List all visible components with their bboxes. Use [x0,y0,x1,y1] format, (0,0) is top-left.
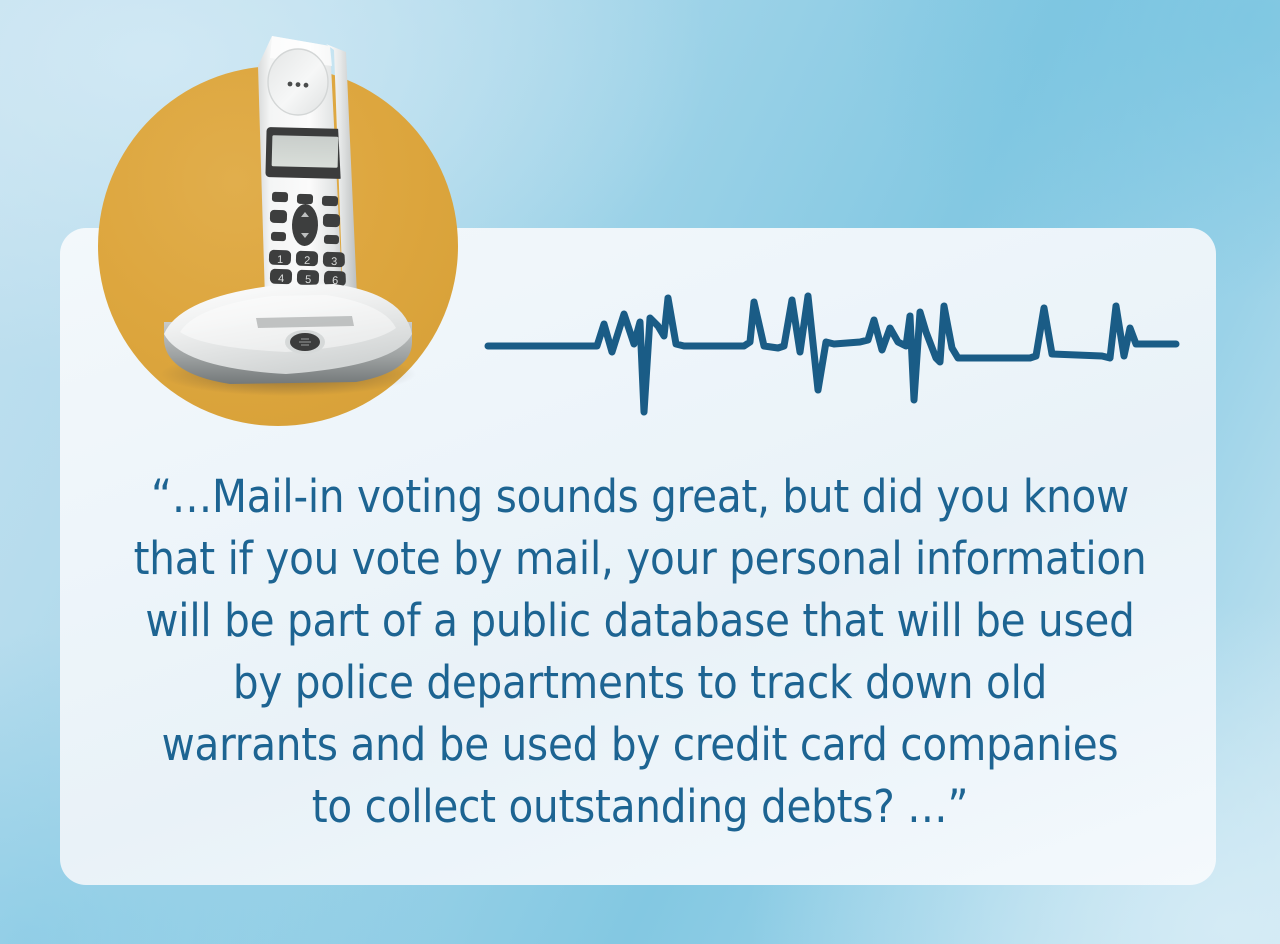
svg-text:4: 4 [278,273,284,285]
audio-waveform-icon [482,272,1182,422]
quote-line-2: that if you vote by mail, your personal … [100,528,1180,590]
svg-text:2: 2 [304,255,310,267]
quote-line-6: to collect outstanding debts? …” [100,776,1180,838]
lcd-screen [272,135,339,168]
quote-line-3: will be part of a public database that w… [100,590,1180,652]
cordless-phone-icon: 1 2 3 4 5 6 7 8 9 * 0 # [120,22,440,422]
svg-text:1: 1 [277,254,283,266]
svg-text:5: 5 [305,274,311,286]
quote-line-4: by police departments to track down old [100,652,1180,714]
quote-line-1: “…Mail-in voting sounds great, but did y… [100,466,1180,528]
quote-text: “…Mail-in voting sounds great, but did y… [100,466,1180,838]
quote-line-5: warrants and be used by credit card comp… [100,714,1180,776]
graphic-canvas: 1 2 3 4 5 6 7 8 9 * 0 # [0,0,1280,944]
svg-text:3: 3 [331,256,337,268]
